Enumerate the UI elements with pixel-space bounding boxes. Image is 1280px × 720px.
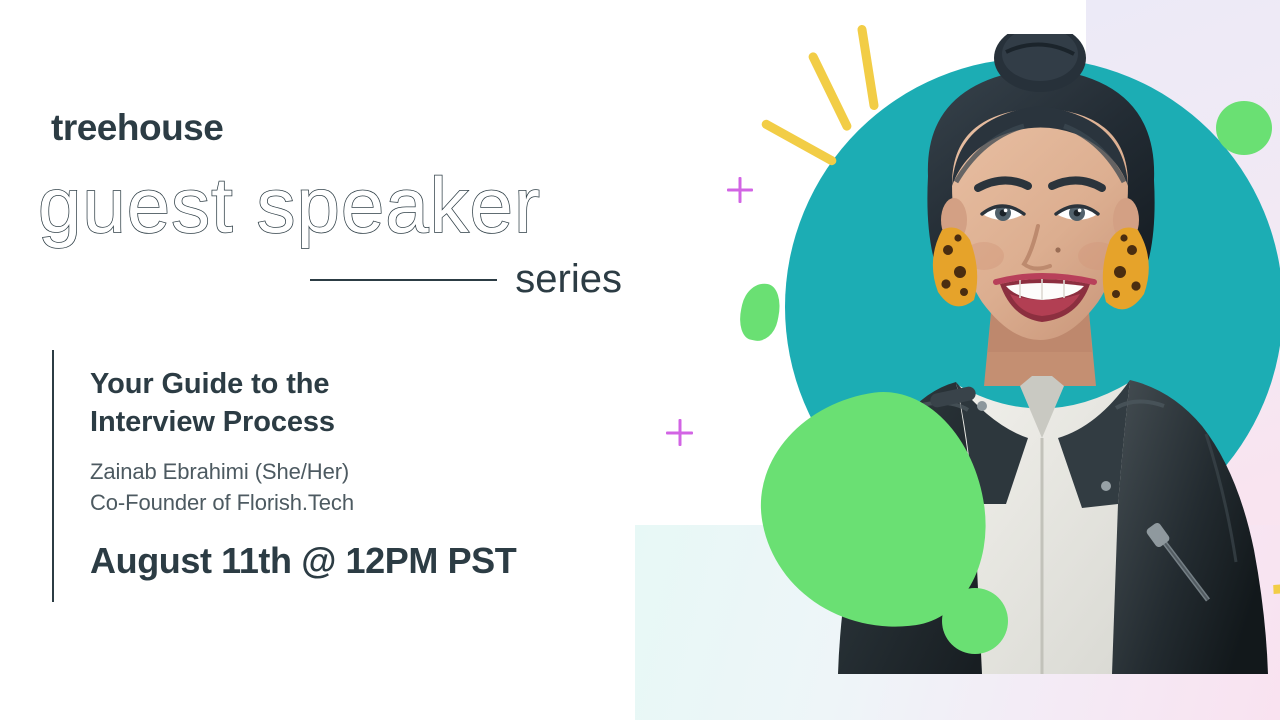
- speaker-name: Zainab Ebrahimi (She/Her): [90, 456, 630, 487]
- event-detail-block: Your Guide to the Interview Process Zain…: [90, 365, 630, 582]
- series-row: series: [310, 257, 622, 302]
- magenta-plus-upper-icon: [727, 177, 753, 203]
- guest-speaker-headline: guest speaker: [38, 160, 541, 251]
- talk-title-line-1: Your Guide to the: [90, 365, 630, 403]
- event-datetime: August 11th @ 12PM PST: [90, 540, 630, 582]
- talk-title-line-2: Interview Process: [90, 403, 630, 441]
- slide-canvas: treehouse guest speaker series Your Guid…: [0, 0, 1280, 720]
- series-label: series: [515, 257, 622, 302]
- treehouse-wordmark: treehouse: [51, 107, 223, 149]
- magenta-plus-lower-icon: [666, 419, 693, 446]
- green-blob-small: [735, 280, 784, 345]
- speaker-role: Co-Founder of Florish.Tech: [90, 487, 630, 518]
- green-circle-bottom: [942, 588, 1008, 654]
- series-divider-rule: [310, 279, 497, 281]
- detail-accent-bar: [52, 350, 54, 602]
- talk-title: Your Guide to the Interview Process: [90, 365, 630, 442]
